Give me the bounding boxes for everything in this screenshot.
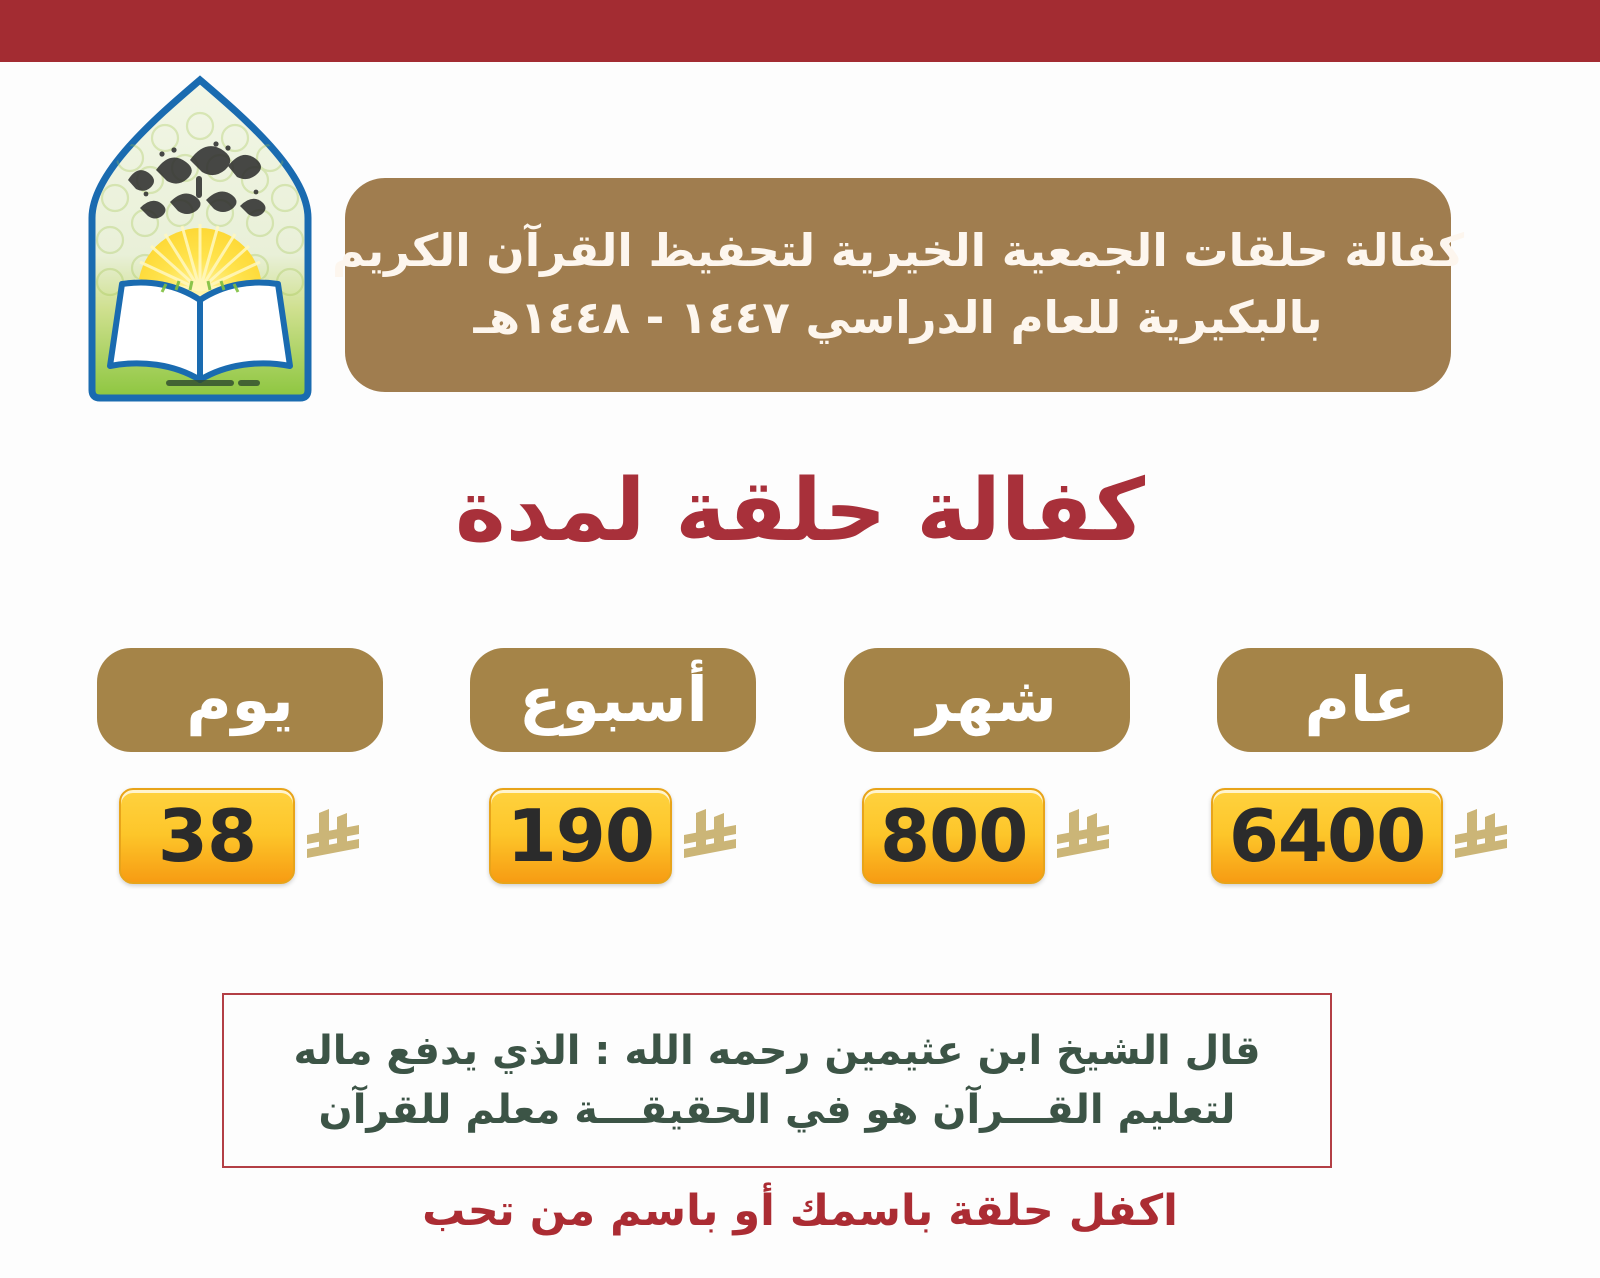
tier-amount-day: 38 bbox=[119, 788, 295, 884]
tier-week[interactable]: أسبوع 190 bbox=[443, 648, 783, 884]
tier-label-day: يوم bbox=[97, 648, 383, 752]
tier-price-month: 800 bbox=[862, 788, 1111, 884]
tier-label-year: عام bbox=[1217, 648, 1503, 752]
quote-line-2: لتعليم القـــرآن هو في الحقيقـــة معلم ل… bbox=[319, 1082, 1236, 1139]
header-line-2: بالبكيرية للعام الدراسي ١٤٤٧ - ١٤٤٨هـ bbox=[473, 288, 1322, 349]
tier-year[interactable]: عام 6400 bbox=[1190, 648, 1530, 884]
logo-founded-text bbox=[166, 380, 260, 386]
tier-amount-year: 6400 bbox=[1211, 788, 1443, 884]
quote-line-1: قال الشيخ ابن عثيمين رحمه الله : الذي يد… bbox=[293, 1023, 1260, 1080]
tier-price-week: 190 bbox=[489, 788, 738, 884]
tier-label-week: أسبوع bbox=[470, 648, 756, 752]
scholar-quote-box: قال الشيخ ابن عثيمين رحمه الله : الذي يد… bbox=[222, 993, 1332, 1168]
saudi-riyal-icon bbox=[1453, 805, 1509, 867]
tier-amount-week: 190 bbox=[489, 788, 672, 884]
header-line-1: كفالة حلقات الجمعية الخيرية لتحفيظ القرآ… bbox=[332, 221, 1464, 282]
tier-day[interactable]: يوم 38 bbox=[70, 648, 410, 884]
tier-amount-month: 800 bbox=[862, 788, 1045, 884]
top-accent-band bbox=[0, 0, 1600, 62]
saudi-riyal-icon bbox=[1055, 805, 1111, 867]
sponsorship-tier-list: عام 6400 شهر bbox=[70, 648, 1530, 884]
poster-canvas: كفالة حلقات الجمعية الخيرية لتحفيظ القرآ… bbox=[0, 0, 1600, 1278]
tier-price-year: 6400 bbox=[1211, 788, 1509, 884]
page-title: كفالة حلقة لمدة bbox=[0, 462, 1600, 561]
call-to-action-text: اكفل حلقة باسمك أو باسم من تحب bbox=[0, 1186, 1600, 1238]
saudi-riyal-icon bbox=[682, 805, 738, 867]
quran-society-emblem-icon bbox=[70, 68, 330, 408]
tier-price-day: 38 bbox=[119, 788, 361, 884]
tier-month[interactable]: شهر 800 bbox=[817, 648, 1157, 884]
organization-logo bbox=[70, 68, 330, 408]
header-banner: كفالة حلقات الجمعية الخيرية لتحفيظ القرآ… bbox=[345, 178, 1451, 392]
saudi-riyal-icon bbox=[305, 805, 361, 867]
tier-label-month: شهر bbox=[844, 648, 1130, 752]
